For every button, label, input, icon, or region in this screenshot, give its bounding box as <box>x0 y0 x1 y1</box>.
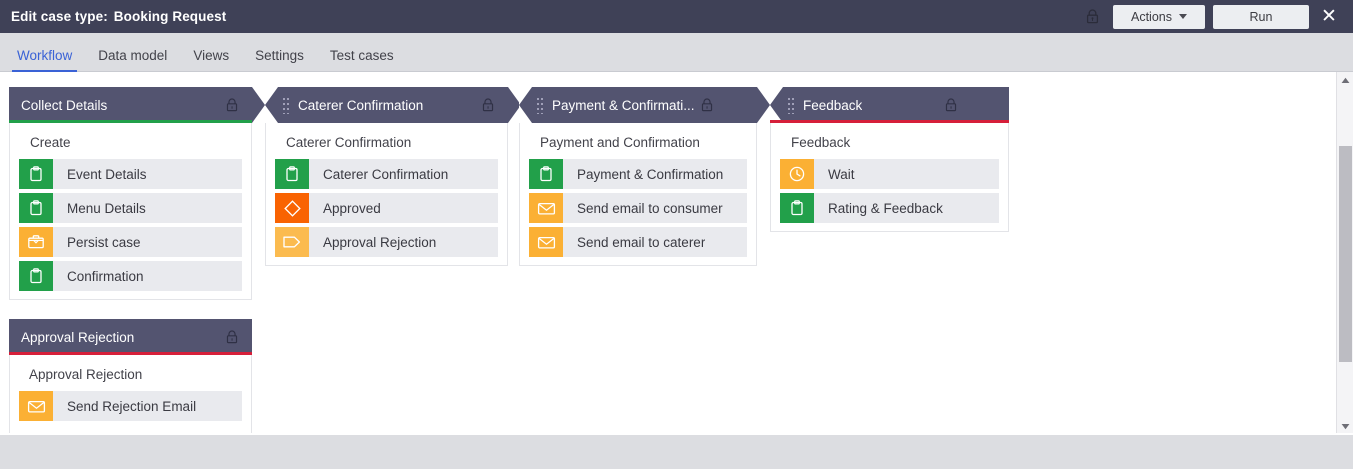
lock-icon[interactable] <box>226 330 238 344</box>
actions-button[interactable]: Actions <box>1113 5 1205 29</box>
stage-accent-bar <box>770 120 1009 123</box>
pentagon-arrow-icon <box>275 227 309 257</box>
stage-chevron-point <box>757 87 770 123</box>
step-label: Confirmation <box>53 269 144 284</box>
process-title: Payment and Confirmation <box>520 123 756 159</box>
page-title: Edit case type:Booking Request <box>11 9 226 24</box>
stage-body: Feedback Wait <box>770 123 1009 232</box>
step-label: Rating & Feedback <box>814 201 943 216</box>
clipboard-icon <box>529 159 563 189</box>
step-label: Persist case <box>53 235 141 250</box>
stage-title: Feedback <box>803 98 862 113</box>
stage-accent-bar <box>9 352 252 355</box>
step-item[interactable]: Menu Details <box>19 193 242 223</box>
scroll-up-arrow-icon[interactable] <box>1337 72 1353 89</box>
step-label: Wait <box>814 167 855 182</box>
step-label: Payment & Confirmation <box>563 167 723 182</box>
run-button[interactable]: Run <box>1213 5 1309 29</box>
process-title: Approval Rejection <box>10 355 251 391</box>
stage-approval-rejection: Approval Rejection Approval Rejection <box>9 319 252 434</box>
lock-icon[interactable] <box>1079 0 1105 33</box>
step-list: Event Details Menu Details <box>10 159 251 291</box>
step-item[interactable]: Rating & Feedback <box>780 193 999 223</box>
lock-icon[interactable] <box>701 98 713 112</box>
footer-bar <box>0 435 1353 469</box>
envelope-icon <box>19 391 53 421</box>
stage-feedback: Feedback Feedback <box>770 87 1009 232</box>
stage-header-approval-rejection[interactable]: Approval Rejection <box>9 319 252 355</box>
step-item[interactable]: Approval Rejection <box>275 227 498 257</box>
step-label: Approved <box>309 201 381 216</box>
step-list: Payment & Confirmation Send email to con… <box>520 159 756 257</box>
stage-collect-details: Collect Details Create <box>9 87 252 300</box>
stage-body: Create Event Details <box>9 123 252 300</box>
step-list: Caterer Confirmation Approved <box>266 159 507 257</box>
stage-header-feedback[interactable]: Feedback <box>770 87 1009 123</box>
step-label: Event Details <box>53 167 147 182</box>
close-icon[interactable]: ✕ <box>1313 0 1345 33</box>
step-label: Send Rejection Email <box>53 399 196 414</box>
tab-test-cases[interactable]: Test cases <box>317 48 407 72</box>
title-bar: Edit case type:Booking Request Actions R… <box>0 0 1353 33</box>
title-prefix: Edit case type: <box>11 9 108 24</box>
stage-title: Caterer Confirmation <box>298 98 423 113</box>
step-item[interactable]: Approved <box>275 193 498 223</box>
tab-data-model[interactable]: Data model <box>85 48 180 72</box>
envelope-icon <box>529 193 563 223</box>
tab-views[interactable]: Views <box>180 48 242 72</box>
step-item[interactable]: Event Details <box>19 159 242 189</box>
step-item[interactable]: Send Rejection Email <box>19 391 242 421</box>
step-item[interactable]: Send email to consumer <box>529 193 747 223</box>
clipboard-icon <box>19 193 53 223</box>
workflow-editor-window: Edit case type:Booking Request Actions R… <box>0 0 1353 469</box>
tab-workflow[interactable]: Workflow <box>4 48 85 72</box>
drag-handle-icon[interactable] <box>283 96 289 114</box>
step-label: Approval Rejection <box>309 235 436 250</box>
drag-handle-icon[interactable] <box>788 96 794 114</box>
workflow-canvas: Collect Details Create <box>0 72 1353 435</box>
step-item[interactable]: Caterer Confirmation <box>275 159 498 189</box>
step-item[interactable]: Wait <box>780 159 999 189</box>
step-label: Caterer Confirmation <box>309 167 448 182</box>
lock-icon[interactable] <box>945 98 957 112</box>
step-label: Send email to consumer <box>563 201 723 216</box>
process-title: Feedback <box>771 123 1008 159</box>
stage-accent-bar <box>9 120 252 123</box>
stage-payment-confirmation: Payment & Confirmati... Payment and Conf… <box>519 87 757 266</box>
step-label: Menu Details <box>53 201 146 216</box>
step-item[interactable]: Persist case <box>19 227 242 257</box>
stage-body: Caterer Confirmation Caterer Confirmatio… <box>265 123 508 266</box>
clipboard-icon <box>19 261 53 291</box>
envelope-icon <box>529 227 563 257</box>
step-label: Send email to caterer <box>563 235 705 250</box>
step-item[interactable]: Payment & Confirmation <box>529 159 747 189</box>
stage-caterer-confirmation: Caterer Confirmation Caterer Confirmatio… <box>265 87 508 266</box>
decision-diamond-icon <box>275 193 309 223</box>
stage-body: Approval Rejection Send Rejection Email <box>9 355 252 434</box>
tab-settings[interactable]: Settings <box>242 48 317 72</box>
scrollbar-thumb[interactable] <box>1339 146 1352 362</box>
clock-icon <box>780 159 814 189</box>
process-title: Caterer Confirmation <box>266 123 507 159</box>
step-list: Send Rejection Email <box>10 391 251 421</box>
stage-title: Payment & Confirmati... <box>552 98 695 113</box>
drag-handle-icon[interactable] <box>537 96 543 114</box>
tab-bar: Workflow Data model Views Settings Test … <box>0 33 1353 72</box>
step-list: Wait Rating & Feedback <box>771 159 1008 223</box>
title-case-name: Booking Request <box>114 9 227 24</box>
stage-header-caterer-confirmation[interactable]: Caterer Confirmation <box>265 87 508 123</box>
stage-title: Approval Rejection <box>21 330 134 345</box>
process-title: Create <box>10 123 251 159</box>
briefcase-icon <box>19 227 53 257</box>
clipboard-icon <box>275 159 309 189</box>
stage-chevron-point <box>252 87 265 123</box>
stage-body: Payment and Confirmation Payment & Confi… <box>519 123 757 266</box>
step-item[interactable]: Send email to caterer <box>529 227 747 257</box>
lock-icon[interactable] <box>482 98 494 112</box>
clipboard-icon <box>780 193 814 223</box>
vertical-scrollbar[interactable] <box>1336 72 1353 435</box>
stage-header-payment-confirmation[interactable]: Payment & Confirmati... <box>519 87 757 123</box>
clipboard-icon <box>19 159 53 189</box>
lock-icon[interactable] <box>226 98 238 112</box>
chevron-down-icon <box>1179 14 1187 19</box>
stage-header-collect-details[interactable]: Collect Details <box>9 87 252 123</box>
step-item[interactable]: Confirmation <box>19 261 242 291</box>
stage-title: Collect Details <box>21 98 107 113</box>
actions-button-label: Actions <box>1131 10 1172 24</box>
title-bar-controls: Actions Run ✕ <box>1079 0 1353 33</box>
